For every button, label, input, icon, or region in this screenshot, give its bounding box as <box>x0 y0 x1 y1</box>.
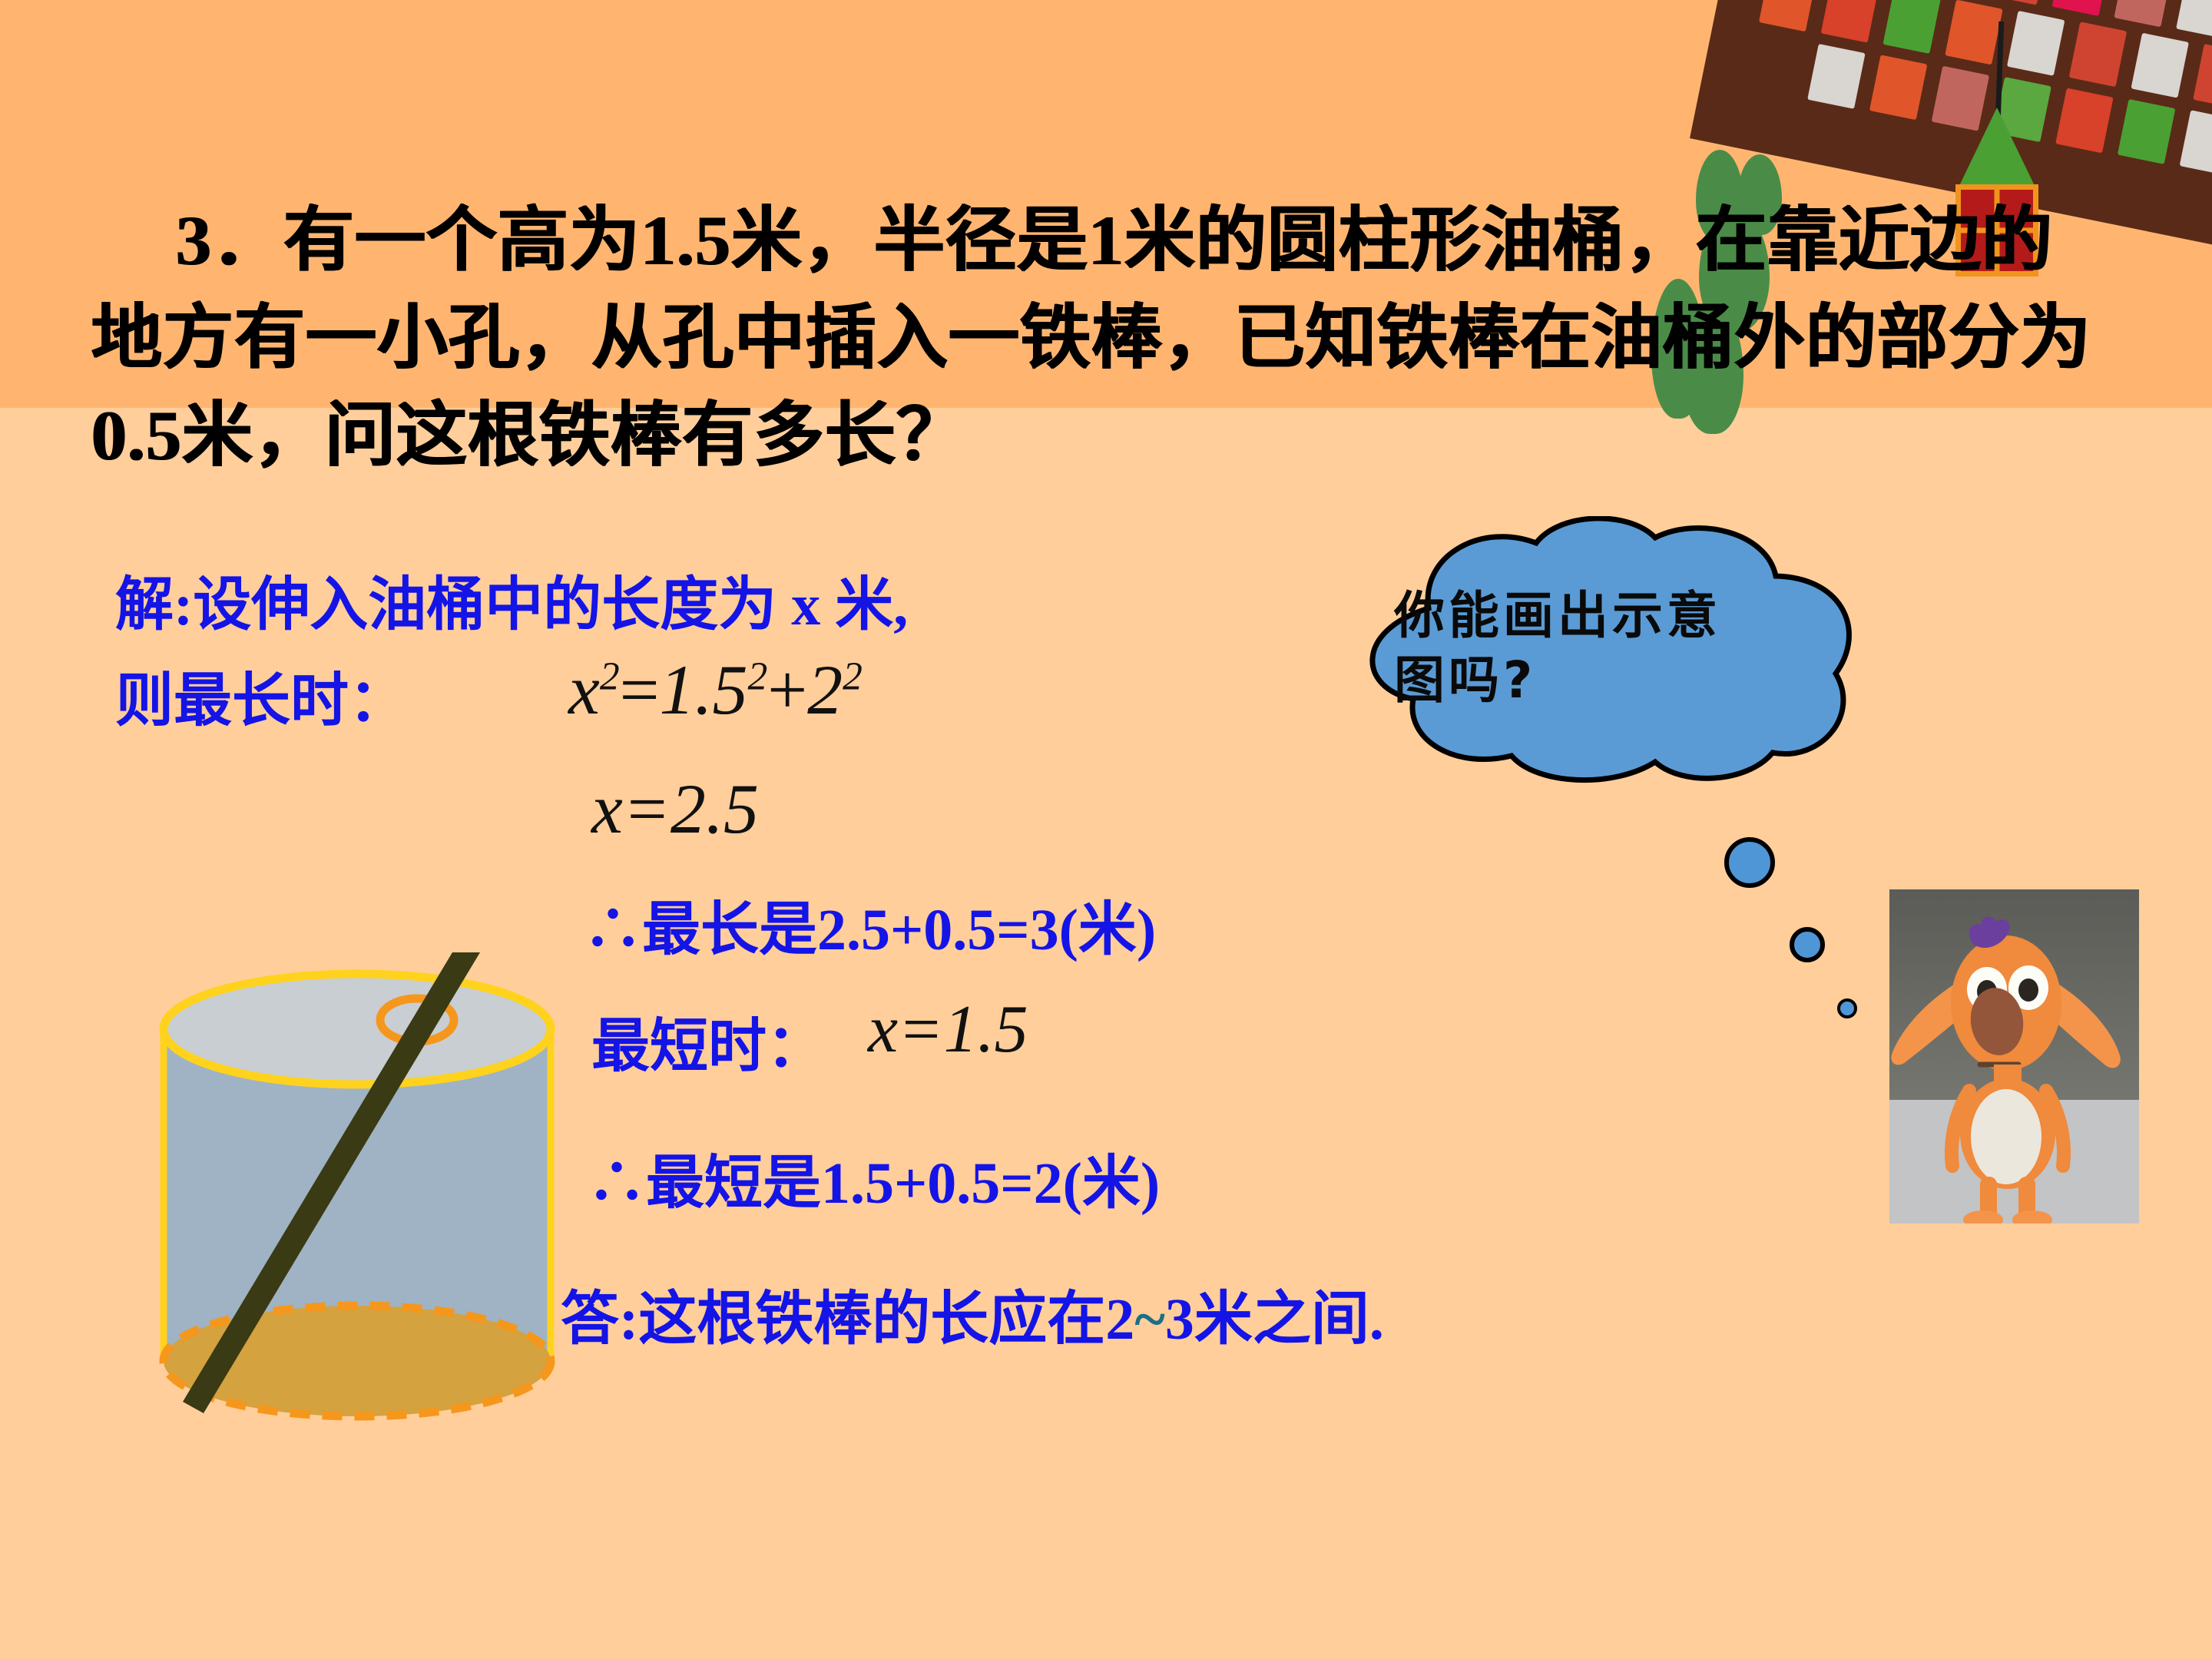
thought-dot-large <box>1724 837 1775 888</box>
equation-pythagorean: x2=1.52+22 <box>568 649 863 730</box>
eq1-lhs: x <box>568 651 600 729</box>
bubble-line-1: 你能画出示意 <box>1394 584 1832 648</box>
wall-tile <box>2007 11 2065 76</box>
eq1-b: 2 <box>807 651 843 729</box>
wall-tile <box>1807 44 1866 109</box>
answer-text-post: 3米之间. <box>1165 1287 1384 1352</box>
wall-tile <box>1990 0 2048 5</box>
cylinder-figure <box>157 952 557 1444</box>
wall-tile <box>2118 99 2176 164</box>
wall-tile <box>2131 33 2189 98</box>
solution-line-3-longest: ∴最长是2.5+0.5=3(米) <box>584 882 1156 966</box>
solution-answer-line: 答:这根铁棒的长应在2~3米之间. <box>561 1271 1384 1356</box>
headline-line-1: 3．有一个高为1.5米，半径是1米的圆柱形油桶，在靠近边的 <box>91 192 2164 290</box>
solution-line-4-shortest-label: 最短时： <box>591 998 825 1083</box>
eq1-a: 1.5 <box>660 651 748 729</box>
equation-x-equals-2point5: x=2.5 <box>591 768 759 849</box>
wall-tile <box>2055 88 2114 154</box>
eq1-op1: = <box>620 651 660 729</box>
thought-bubble-text: 你能画出示意 图吗? <box>1394 584 1832 714</box>
question-number: 3． <box>175 201 283 280</box>
solution-line-5-shortest: ∴最短是1.5+0.5=2(米) <box>588 1135 1160 1220</box>
wall-tile <box>1821 0 1879 43</box>
bubble-line-2: 图吗? <box>1394 648 1832 713</box>
wall-tile <box>1759 0 1817 31</box>
wall-tile <box>2114 0 2172 27</box>
wall-tile <box>1869 55 1928 120</box>
wall-tile <box>2193 44 2212 109</box>
headline-line-3: 0.5米，问这根铁棒有多长？ <box>91 387 2164 485</box>
thought-dot-small <box>1837 998 1857 1018</box>
eq1-op2: + <box>767 651 807 729</box>
headline-line-2: 地方有一小孔，从孔中插入一铁棒，已知铁棒在油桶外的部分为 <box>91 290 2164 387</box>
eq1-a-exp: 2 <box>748 654 768 698</box>
solution-line-2: 则最长时： <box>115 653 407 737</box>
answer-tilde: ~ <box>1134 1287 1165 1352</box>
thought-dot-medium <box>1790 927 1825 962</box>
dog-figure-icon <box>1889 889 2139 1224</box>
answer-text-pre: 答:这根铁棒的长应在2 <box>561 1287 1134 1352</box>
solution-line-1: 解:设伸入油桶中的长度为 x 米, <box>115 557 908 641</box>
wall-tile <box>1883 0 1941 54</box>
dog-photo <box>1889 889 2139 1224</box>
slide-canvas: 3．有一个高为1.5米，半径是1米的圆柱形油桶，在靠近边的 地方有一小孔，从孔中… <box>0 0 2212 1659</box>
wall-tile <box>2176 0 2212 38</box>
wall-tile <box>1945 0 2003 65</box>
wall-tile <box>2052 0 2111 16</box>
wall-tile <box>2180 110 2212 175</box>
ornament-triangle-icon <box>1957 108 2037 190</box>
question-headline: 3．有一个高为1.5米，半径是1米的圆柱形油桶，在靠近边的 地方有一小孔，从孔中… <box>91 192 2164 485</box>
eq1-lhs-exp: 2 <box>600 654 620 698</box>
wall-tile <box>2069 22 2128 87</box>
equation-x-equals-1point5: x=1.5 <box>868 991 1028 1068</box>
eq1-b-exp: 2 <box>843 654 863 698</box>
